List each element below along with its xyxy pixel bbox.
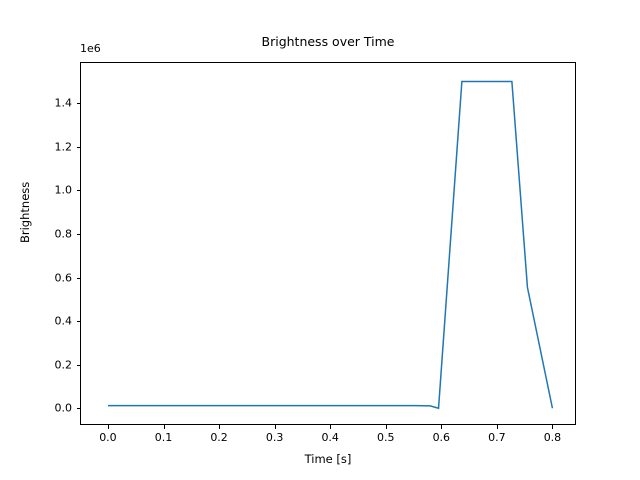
x-tick-mark	[497, 425, 498, 429]
y-axis-label: Brightness	[18, 182, 32, 243]
x-tick-label: 0.4	[321, 431, 339, 444]
y-tick-mark	[77, 408, 81, 409]
matplotlib-figure: Brightness over Time 1e6 0.00.10.20.30.4…	[0, 0, 640, 480]
y-tick-mark	[77, 234, 81, 235]
x-axis-label: Time [s]	[80, 452, 576, 466]
y-tick-label: 0.6	[40, 271, 72, 284]
x-tick-label: 0.8	[544, 431, 562, 444]
y-tick-label: 0.4	[40, 315, 72, 328]
x-tick-label: 0.5	[377, 431, 395, 444]
x-tick-label: 0.7	[488, 431, 506, 444]
y-tick-label: 1.2	[40, 140, 72, 153]
y-axis-offset-text: 1e6	[80, 42, 101, 56]
plot-area	[80, 62, 576, 425]
y-tick-label: 0.0	[40, 402, 72, 415]
x-tick-mark	[441, 425, 442, 429]
x-tick-mark	[275, 425, 276, 429]
y-tick-mark	[77, 103, 81, 104]
x-tick-label: 0.0	[99, 431, 117, 444]
y-tick-label: 1.0	[40, 184, 72, 197]
x-tick-mark	[108, 425, 109, 429]
x-tick-label: 0.1	[155, 431, 173, 444]
y-tick-label: 0.2	[40, 358, 72, 371]
x-tick-label: 0.3	[266, 431, 284, 444]
x-tick-mark	[330, 425, 331, 429]
y-tick-mark	[77, 147, 81, 148]
x-tick-label: 0.2	[210, 431, 228, 444]
x-tick-mark	[552, 425, 553, 429]
x-tick-label: 0.6	[433, 431, 451, 444]
y-tick-label: 0.8	[40, 227, 72, 240]
x-tick-mark	[219, 425, 220, 429]
line-series-brightness	[108, 82, 552, 409]
y-tick-mark	[77, 365, 81, 366]
page-title: Brightness over Time	[80, 34, 576, 50]
y-tick-mark	[77, 278, 81, 279]
x-tick-mark	[386, 425, 387, 429]
y-tick-mark	[77, 321, 81, 322]
x-tick-mark	[164, 425, 165, 429]
y-tick-label: 1.4	[40, 97, 72, 110]
y-tick-mark	[77, 190, 81, 191]
